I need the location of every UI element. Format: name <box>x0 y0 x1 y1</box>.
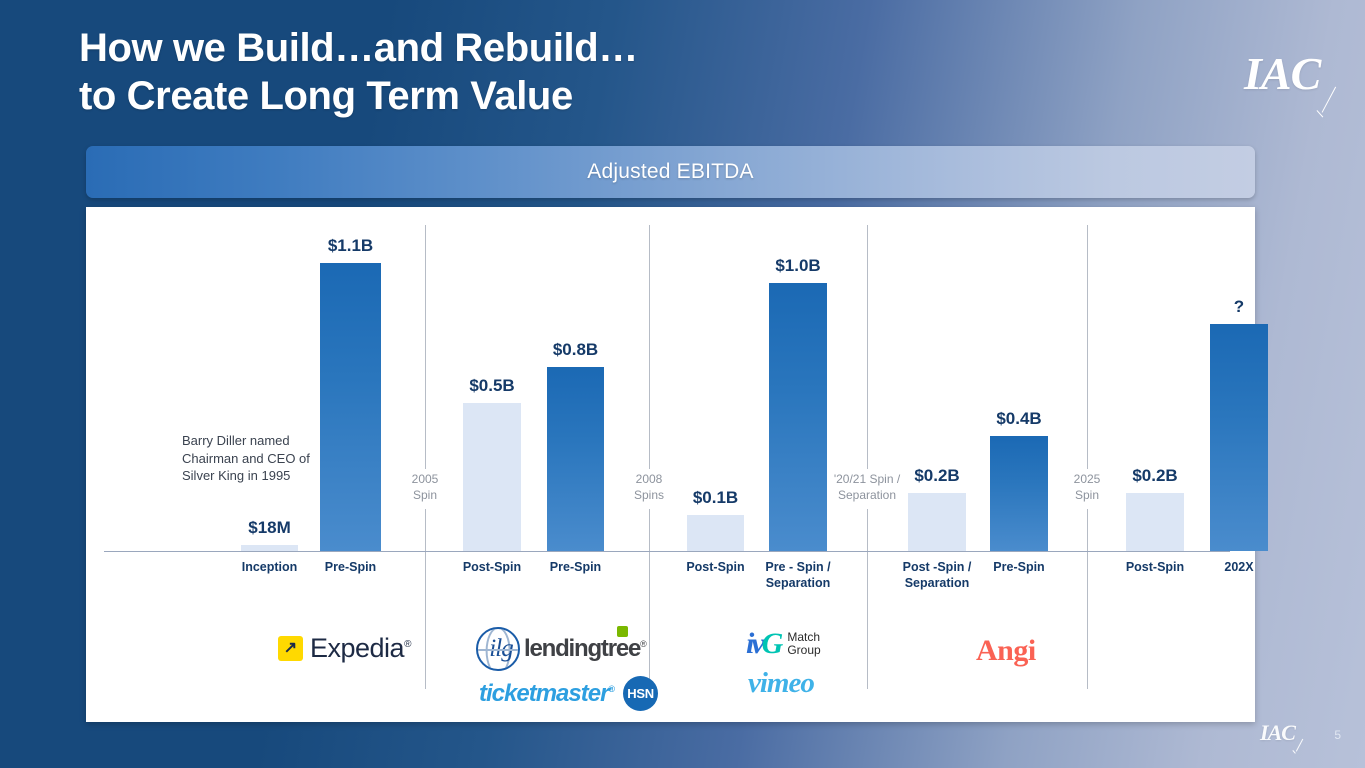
divider-label-2008-spins: 2008Spins <box>630 469 668 507</box>
bar-fill-pre-spin-1 <box>320 263 381 551</box>
bar-pre-spin-2: $0.8B <box>547 367 604 551</box>
ilg-wordmark: ilg <box>478 629 518 669</box>
match-group-mark-icon: ivG <box>746 629 780 659</box>
chart-axis-line <box>104 551 1230 552</box>
bar-fill-post-spin-2 <box>687 515 744 551</box>
iac-logo-footer-text: IAC <box>1260 720 1295 745</box>
page-number: 5 <box>1334 728 1341 742</box>
bar-fill-inception <box>241 545 298 551</box>
bar-label-post-spin-2: Post-Spin <box>686 560 744 576</box>
bar-label-line: Post-Spin <box>1126 560 1184 576</box>
portfolio-logos: Expedia® ilg lendingtree® ticketmaster® … <box>86 611 1255 716</box>
logo-angi: Angi <box>976 634 1036 668</box>
bar-fill-pre-spin-3 <box>769 283 827 551</box>
bar-label-line: Post -Spin / <box>903 560 972 576</box>
bar-label-line: Separation <box>903 576 972 592</box>
bar-label-line: 202X <box>1224 560 1253 576</box>
ticketmaster-wordmark: ticketmaster® <box>479 680 614 708</box>
bar-label-line: Separation <box>765 576 830 592</box>
bar-value-post-spin-2: $0.1B <box>693 488 738 508</box>
expedia-arrow-icon <box>278 636 303 661</box>
logo-expedia: Expedia® <box>278 633 411 664</box>
bar-post-spin-2: $0.1B <box>687 515 744 551</box>
bar-label-post-spin-1: Post-Spin <box>463 560 521 576</box>
bar-label-line: Post-Spin <box>686 560 744 576</box>
vimeo-wordmark: vimeo <box>748 667 814 700</box>
page-title-line-1: How we Build…and Rebuild… <box>79 26 638 70</box>
logo-match-group: ivG Match Group <box>746 629 821 659</box>
chart-panel: 2005Spin2008Spins'20/21 Spin /Separation… <box>86 207 1255 722</box>
ilg-globe-icon: ilg <box>476 627 520 671</box>
divider-line-2005-spin-upper <box>425 225 426 469</box>
bar-value-inception: $18M <box>248 518 291 538</box>
bar-value-future-202x: ? <box>1234 297 1244 317</box>
bar-fill-post-spin-4 <box>1126 493 1184 551</box>
bar-chart: 2005Spin2008Spins'20/21 Spin /Separation… <box>86 207 1255 722</box>
bar-label-pre-spin-1: Pre-Spin <box>325 560 376 576</box>
bar-value-pre-spin-3: $1.0B <box>775 256 820 276</box>
bar-value-pre-spin-4: $0.4B <box>996 409 1041 429</box>
bar-label-post-spin-3: Post -Spin /Separation <box>903 560 972 591</box>
bar-pre-spin-1: $1.1B <box>320 263 381 551</box>
bar-fill-post-spin-3 <box>908 493 966 551</box>
lendingtree-wordmark: lendingtree® <box>524 635 646 663</box>
barry-diller-annotation: Barry Diller named Chairman and CEO of S… <box>182 432 322 485</box>
bar-pre-spin-3: $1.0B <box>769 283 827 551</box>
divider-label-line-2: Spins <box>634 488 664 504</box>
bar-label-future-202x: 202X <box>1224 560 1253 576</box>
divider-label-2025-spin: 2025Spin <box>1070 469 1105 507</box>
bar-pre-spin-4: $0.4B <box>990 436 1048 551</box>
logo-vimeo: vimeo <box>748 667 814 700</box>
divider-label-line-2: Spin <box>1074 488 1101 504</box>
bar-value-post-spin-3: $0.2B <box>914 466 959 486</box>
divider-label-line-1: 2025 <box>1074 472 1101 488</box>
bar-post-spin-4: $0.2B <box>1126 493 1184 551</box>
lendingtree-leaf-icon <box>617 626 628 637</box>
bar-label-line: Pre-Spin <box>550 560 601 576</box>
divider-label-2005-spin: 2005Spin <box>408 469 443 507</box>
section-banner: Adjusted EBITDA <box>86 146 1255 198</box>
bar-inception: $18M <box>241 545 298 551</box>
divider-label-line-1: 2005 <box>412 472 439 488</box>
iac-logo-icon: IAC <box>1244 47 1335 100</box>
divider-label-line-2: Spin <box>412 488 439 504</box>
page-title-line-2: to Create Long Term Value <box>79 72 638 120</box>
banner-title: Adjusted EBITDA <box>587 160 753 184</box>
logo-ilg-lendingtree: ilg lendingtree® <box>476 627 646 671</box>
bar-label-pre-spin-2: Pre-Spin <box>550 560 601 576</box>
bar-fill-pre-spin-4 <box>990 436 1048 551</box>
bar-future-202x: ? <box>1210 324 1268 551</box>
bar-label-line: Post-Spin <box>463 560 521 576</box>
divider-line-2008-spins-upper <box>649 225 650 469</box>
bar-value-post-spin-1: $0.5B <box>469 376 514 396</box>
bar-label-line: Pre-Spin <box>993 560 1044 576</box>
divider-label-2021-spin: '20/21 Spin /Separation <box>830 469 904 507</box>
bar-value-pre-spin-2: $0.8B <box>553 340 598 360</box>
bar-post-spin-1: $0.5B <box>463 403 521 551</box>
bar-value-post-spin-4: $0.2B <box>1132 466 1177 486</box>
bar-fill-pre-spin-2 <box>547 367 604 551</box>
bar-fill-future-202x <box>1210 324 1268 551</box>
page-title: How we Build…and Rebuild… to Create Long… <box>79 24 638 121</box>
bar-label-inception: Inception <box>242 560 298 576</box>
divider-line-2021-spin-upper <box>867 225 868 469</box>
bar-label-line: Pre-Spin <box>325 560 376 576</box>
match-group-wordmark: Match Group <box>787 631 820 658</box>
bar-value-pre-spin-1: $1.1B <box>328 236 373 256</box>
divider-label-line-1: '20/21 Spin / <box>834 472 900 488</box>
bar-label-line: Pre - Spin / <box>765 560 830 576</box>
bar-label-pre-spin-4: Pre-Spin <box>993 560 1044 576</box>
iac-logo-footer-icon: IAC <box>1260 720 1302 746</box>
bar-label-pre-spin-3: Pre - Spin /Separation <box>765 560 830 591</box>
bar-post-spin-3: $0.2B <box>908 493 966 551</box>
logo-ticketmaster-hsn: ticketmaster® HSN <box>479 676 658 711</box>
angi-wordmark: Angi <box>976 634 1036 668</box>
expedia-wordmark: Expedia® <box>310 633 411 664</box>
hsn-badge-icon: HSN <box>623 676 658 711</box>
bar-label-post-spin-4: Post-Spin <box>1126 560 1184 576</box>
bar-fill-post-spin-1 <box>463 403 521 551</box>
divider-line-2025-spin-upper <box>1087 225 1088 469</box>
bar-label-line: Inception <box>242 560 298 576</box>
iac-logo-text: IAC <box>1244 48 1320 99</box>
divider-label-line-1: 2008 <box>634 472 664 488</box>
divider-label-line-2: Separation <box>834 488 900 504</box>
